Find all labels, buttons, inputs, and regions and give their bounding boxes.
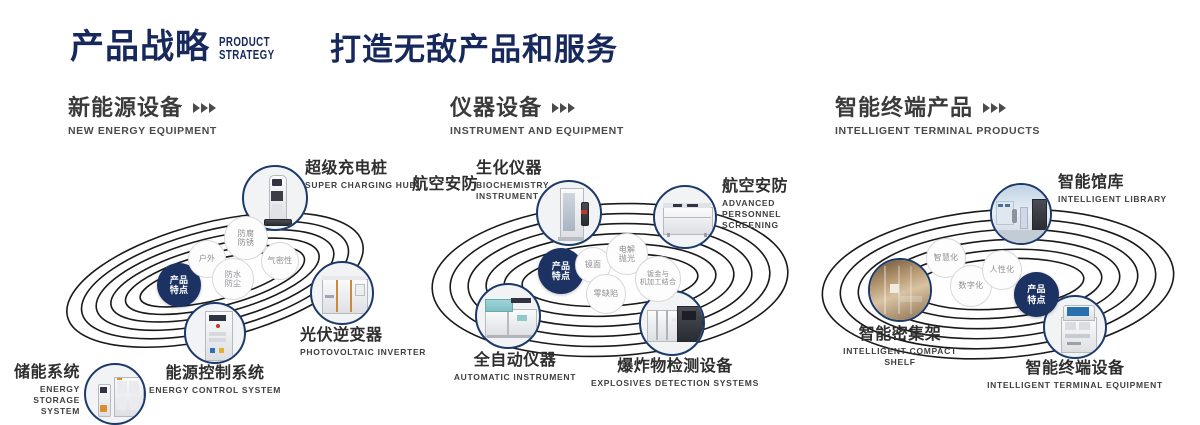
node-photovoltaic-inverter[interactable] (310, 261, 374, 325)
diagram-intelligent-terminal: 智能馆库 INTELLIGENT LIBRARY 智能终端设备 INTELLIG… (790, 150, 1200, 400)
feature-bubble-2: 零缺陷 (586, 274, 626, 314)
label-automatic-instrument: 全自动仪器 AUTOMATIC INSTRUMENT (390, 352, 640, 383)
product-strategy-infographic: 产品战略 PRODUCT STRATEGY 打造无敌产品和服务 新能源设备 NE… (0, 0, 1200, 422)
section-title-new-energy: 新能源设备 NEW ENERGY EQUIPMENT (68, 96, 217, 137)
feature-bubble-2: 防水 防尘 (212, 258, 254, 300)
node-intelligent-compact-shelf[interactable] (868, 258, 932, 322)
brand-title-en: PRODUCT STRATEGY (219, 36, 274, 64)
diagram-instrument: 生化仪器 BIOCHEMISTRY INSTRUMENT 航空安防 航空安防 A… (400, 150, 820, 400)
section-title-instrument: 仪器设备 INSTRUMENT AND EQUIPMENT (450, 96, 624, 137)
feature-bubble-3: 钣金与 机加工结合 (635, 256, 681, 302)
label-intelligent-terminal-equipment: 智能终端设备 INTELLIGENT TERMINAL EQUIPMENT (955, 360, 1195, 391)
label-intelligent-library: 智能馆库 INTELLIGENT LIBRARY (1058, 174, 1167, 205)
node-advanced-personnel-screening[interactable] (653, 185, 717, 249)
section-title-cn: 新能源设备 (68, 96, 217, 120)
feature-bubble-3: 气密性 (261, 242, 299, 280)
label-intelligent-compact-shelf: 智能密集架 INTELLIGENT COMPACT SHELF (810, 326, 990, 368)
explosives-detection-systems-image (641, 292, 703, 354)
section-title-cn: 智能终端产品 (835, 96, 1040, 120)
chevron-right-icons (193, 103, 216, 113)
node-energy-control-system[interactable] (184, 302, 246, 364)
automatic-instrument-image (477, 285, 539, 347)
core-bubble-product-features: 产品 特点 (1014, 272, 1059, 317)
label-energy-control-system: 能源控制系统 ENERGY CONTROL SYSTEM (95, 365, 335, 396)
node-intelligent-library[interactable] (990, 183, 1052, 245)
section-title-en: NEW ENERGY EQUIPMENT (68, 125, 217, 137)
section-title-cn: 仪器设备 (450, 96, 624, 120)
label-aviation-security-aux: 航空安防 (390, 176, 478, 194)
section-title-en: INSTRUMENT AND EQUIPMENT (450, 125, 624, 137)
brand-header: 产品战略 PRODUCT STRATEGY (70, 30, 290, 64)
chevron-right-icons (552, 103, 575, 113)
section-title-en: INTELLIGENT TERMINAL PRODUCTS (835, 125, 1040, 137)
label-biochemistry-instrument: 生化仪器 BIOCHEMISTRY INSTRUMENT (476, 160, 549, 202)
intelligent-library-image (992, 185, 1050, 243)
photovoltaic-inverter-image (312, 263, 372, 323)
intelligent-compact-shelf-image (870, 260, 930, 320)
page-headline: 打造无敌产品和服务 (330, 33, 618, 67)
label-energy-storage-system: 储能系统 ENERGY STORAGE SYSTEM (0, 364, 80, 416)
brand-title-cn: 产品战略 (70, 30, 210, 64)
chevron-right-icons (983, 103, 1006, 113)
energy-control-system-image (186, 304, 244, 362)
diagram-new-energy: 储能系统 ENERGY STORAGE SYSTEM 超级充电桩 SUPER C… (0, 150, 420, 400)
advanced-personnel-screening-image (655, 187, 715, 247)
node-automatic-instrument[interactable] (475, 283, 541, 349)
section-title-intelligent-terminal: 智能终端产品 INTELLIGENT TERMINAL PRODUCTS (835, 96, 1040, 137)
